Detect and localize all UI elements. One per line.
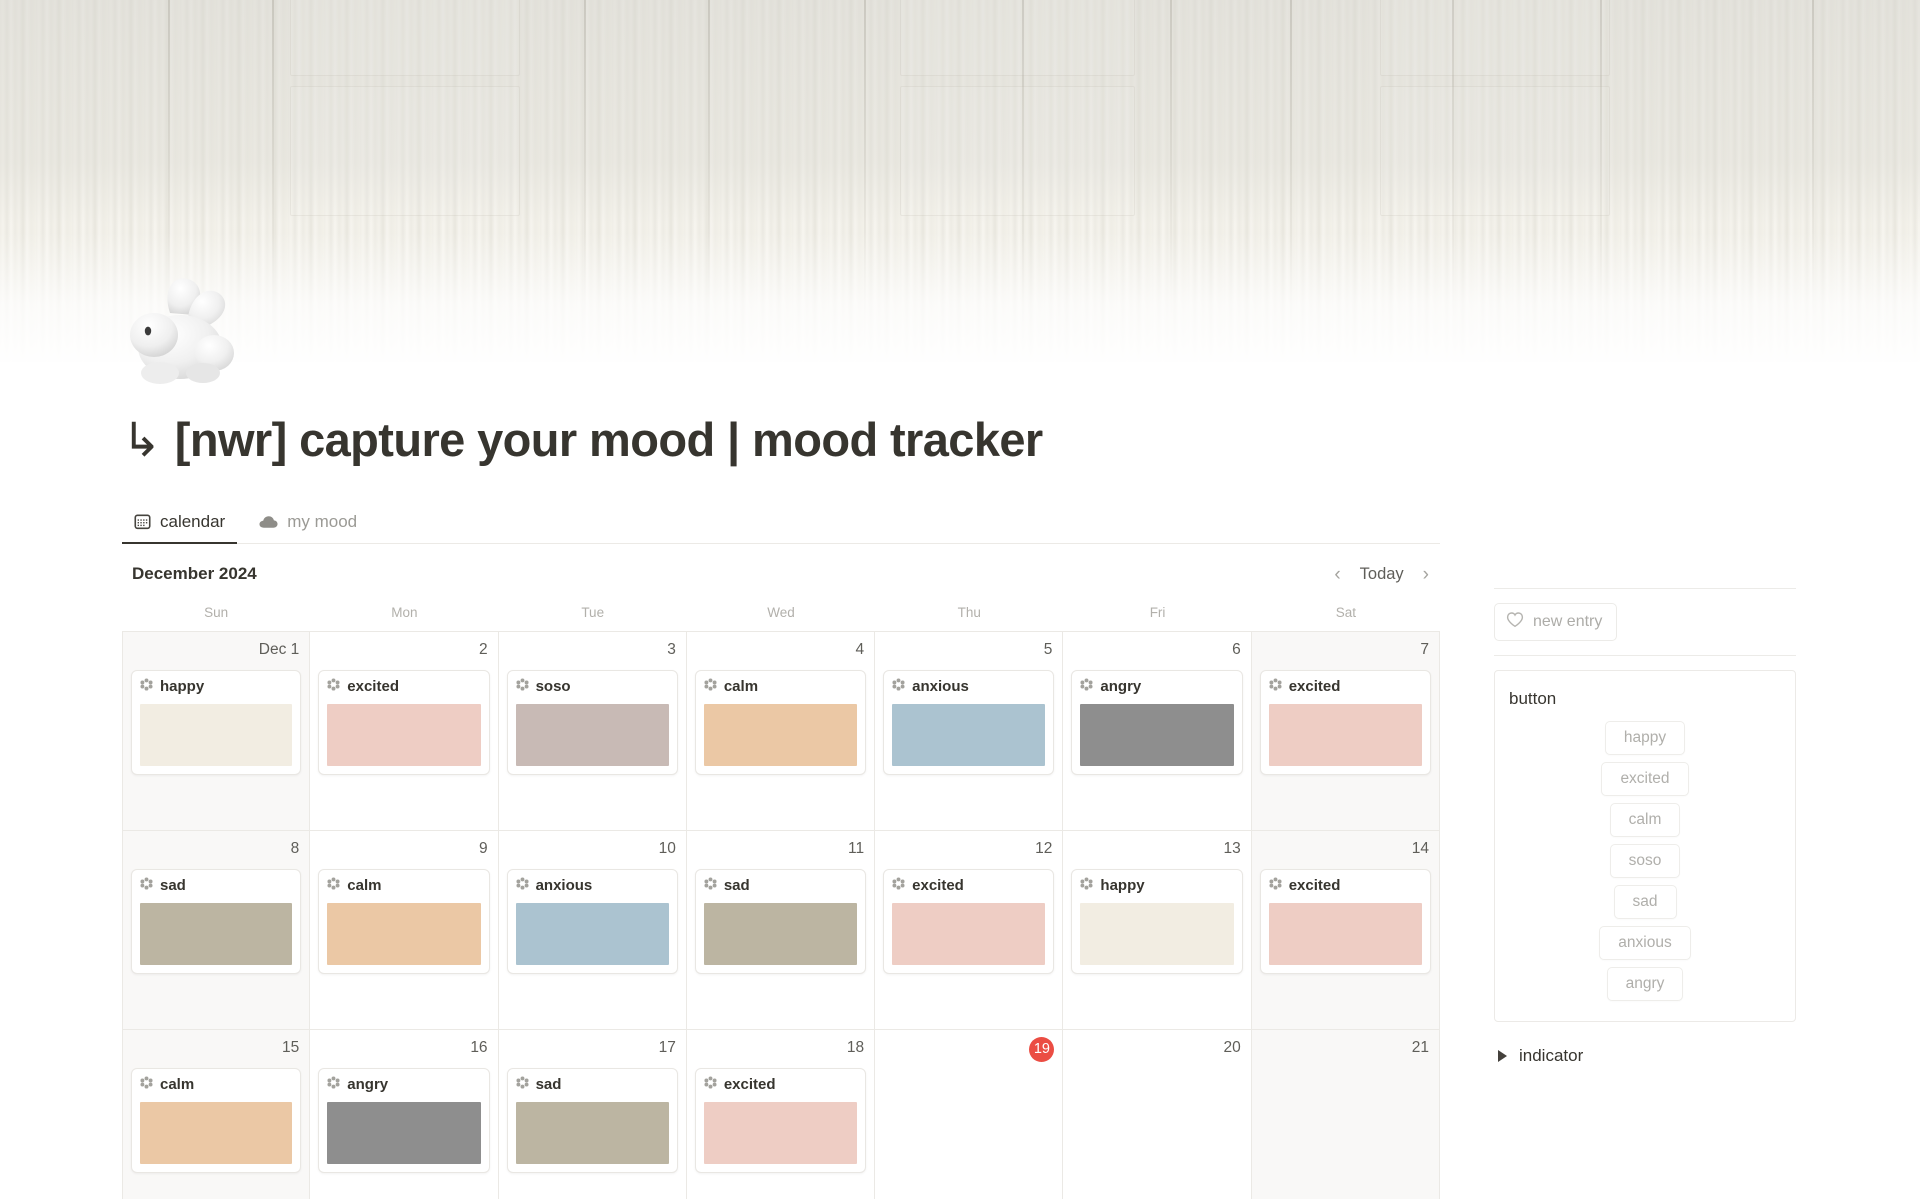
mood-entry-title: excited [1269,678,1422,695]
calendar-day-cell[interactable]: 7excited [1252,632,1440,830]
mood-color-swatch [1269,903,1422,965]
mood-entry-title: angry [327,1076,480,1093]
asterisk-icon [516,678,529,695]
mood-entry-title: calm [704,678,857,695]
triangle-right-icon [1498,1050,1507,1062]
day-number: 5 [1042,639,1055,661]
day-of-week-sat: Sat [1252,600,1440,631]
day-number: 12 [1033,838,1054,860]
mood-entry-title: soso [516,678,669,695]
button-panel: button happyexcitedcalmsososadanxiousang… [1494,670,1796,1022]
mood-entry-title: excited [327,678,480,695]
mood-entry-label: sad [160,877,186,894]
mood-entry-label: excited [347,678,399,695]
day-number-row: 16 [318,1037,489,1062]
mood-entry-card[interactable]: happy [131,670,301,775]
page-title-text: [nwr] capture your mood | mood tracker [175,413,1043,466]
mood-color-swatch [892,704,1045,766]
mood-button-angry[interactable]: angry [1607,967,1684,1001]
calendar-nav: ‹ Today › [1331,563,1438,586]
prev-month-button[interactable]: ‹ [1331,563,1343,586]
asterisk-icon [704,877,717,894]
mood-button-anxious[interactable]: anxious [1599,926,1690,960]
day-number: 16 [468,1037,489,1059]
day-number-row: 2 [318,639,489,664]
day-number: 10 [657,838,678,860]
day-number: 13 [1221,838,1242,860]
mood-entry-label: angry [347,1076,388,1093]
calendar-day-cell[interactable]: 18excited [687,1030,875,1199]
mood-color-swatch [327,903,480,965]
asterisk-icon [516,1076,529,1093]
day-number: 18 [845,1037,866,1059]
calendar-day-cell[interactable]: 11sad [687,831,875,1029]
right-sidebar: new entry button happyexcitedcalmsososad… [1494,588,1796,1066]
page-title: ↳[nwr] capture your mood | mood tracker [122,414,1552,467]
asterisk-icon [892,877,905,894]
calendar-day-cell[interactable]: 5anxious [875,632,1063,830]
tab-calendar[interactable]: calendar [122,506,237,543]
calendar-icon [134,513,151,530]
tab-bar: calendar my mood [122,506,1440,544]
asterisk-icon [1080,678,1093,695]
next-month-button[interactable]: › [1420,563,1432,586]
day-number-row: 19 [883,1037,1054,1062]
page-cover [0,0,1920,362]
day-number-row: 8 [131,838,301,863]
mood-entry-card[interactable]: calm [695,670,866,775]
day-number: 3 [665,639,678,661]
mood-entry-label: calm [724,678,758,695]
tab-calendar-label: calendar [160,512,225,532]
day-number: 17 [657,1037,678,1059]
tab-my-mood-label: my mood [287,512,357,532]
day-of-week-thu: Thu [875,600,1063,631]
mood-color-swatch [704,903,857,965]
mood-entry-card[interactable]: angry [1071,670,1242,775]
day-number: 7 [1418,639,1431,661]
asterisk-icon [140,1076,153,1093]
calendar-header: December 2024 ‹ Today › [122,558,1440,600]
mood-entry-title: sad [516,1076,669,1093]
day-number: 20 [1221,1037,1242,1059]
cloud-icon [259,515,278,529]
mood-color-swatch [892,903,1045,965]
mood-button-calm[interactable]: calm [1610,803,1681,837]
day-number-row: 13 [1071,838,1242,863]
calendar-week-row: 8sad9calm10anxious11sad12excited13happy1… [122,831,1440,1030]
day-number: 8 [289,838,302,860]
mood-entry-card[interactable]: excited [883,869,1054,974]
calendar-day-cell[interactable]: 9calm [310,831,498,1029]
mood-entry-label: excited [724,1076,776,1093]
day-number: 11 [846,838,866,860]
day-number-row: Dec 1 [131,639,301,664]
day-number: 9 [477,838,490,860]
mood-color-swatch [1269,704,1422,766]
day-number-row: 10 [507,838,678,863]
day-number: 4 [854,639,867,661]
mood-entry-title: anxious [516,877,669,894]
asterisk-icon [892,678,905,695]
sidebar-divider-top [1494,588,1796,589]
new-entry-button[interactable]: new entry [1494,603,1617,641]
today-button[interactable]: Today [1360,565,1404,584]
mood-color-swatch [516,903,669,965]
mood-button-soso[interactable]: soso [1610,844,1681,878]
page-icon-bunny[interactable] [118,273,246,391]
calendar-day-cell[interactable]: 12excited [875,831,1063,1029]
title-arrow-icon: ↳ [122,413,161,466]
mood-entry-title: sad [140,877,292,894]
day-number-row: 6 [1071,639,1242,664]
asterisk-icon [704,1076,717,1093]
day-number-row: 18 [695,1037,866,1062]
mood-entry-label: calm [160,1076,194,1093]
day-number: 2 [477,639,490,661]
day-number-row: 3 [507,639,678,664]
mood-color-swatch [704,704,857,766]
mood-color-swatch [1080,903,1233,965]
day-number-row: 11 [695,838,866,863]
mood-button-excited[interactable]: excited [1601,762,1688,796]
mood-entry-title: happy [1080,877,1233,894]
calendar-day-cell[interactable]: 2excited [310,632,498,830]
day-number-row: 14 [1260,838,1431,863]
asterisk-icon [1269,678,1282,695]
day-number-row: 9 [318,838,489,863]
calendar-day-cell[interactable]: 19 [875,1030,1063,1199]
day-number-row: 15 [131,1037,301,1062]
day-number-row: 17 [507,1037,678,1062]
day-of-week-fri: Fri [1063,600,1251,631]
mood-entry-card[interactable]: calm [318,869,489,974]
mood-entry-label: happy [1100,877,1144,894]
mood-entry-label: calm [347,877,381,894]
button-panel-title: button [1509,689,1781,709]
calendar-week-row: 15calm16angry17sad18excited192021 [122,1030,1440,1199]
mood-entry-label: soso [536,678,571,695]
asterisk-icon [516,877,529,894]
mood-entry-title: sad [704,877,857,894]
calendar-day-cell[interactable]: 13happy [1063,831,1251,1029]
mood-color-swatch [327,1102,480,1164]
mood-entry-card[interactable]: sad [131,869,301,974]
calendar-day-cell[interactable]: 6angry [1063,632,1251,830]
calendar-day-cell[interactable]: 8sad [122,831,310,1029]
calendar-day-cell[interactable]: 4calm [687,632,875,830]
calendar-day-cell[interactable]: 20 [1063,1030,1251,1199]
mood-entry-title: excited [892,877,1045,894]
mood-entry-title: excited [704,1076,857,1093]
mood-entry-label: sad [724,877,750,894]
mood-color-swatch [704,1102,857,1164]
day-number-row: 4 [695,639,866,664]
tab-my-mood[interactable]: my mood [247,506,369,543]
calendar-day-cell[interactable]: 15calm [122,1030,310,1199]
day-number: Dec 1 [257,639,302,661]
mood-entry-card[interactable]: excited [1260,670,1431,775]
asterisk-icon [1080,877,1093,894]
day-number-row: 7 [1260,639,1431,664]
mood-color-swatch [516,1102,669,1164]
mood-color-swatch [516,704,669,766]
day-of-week-header: SunMonTueWedThuFriSat [122,600,1440,632]
calendar-day-cell[interactable]: 21 [1252,1030,1440,1199]
mood-entry-card[interactable]: happy [1071,869,1242,974]
mood-entry-card[interactable]: excited [318,670,489,775]
calendar-day-cell[interactable]: 10anxious [499,831,687,1029]
day-number-row: 21 [1260,1037,1431,1062]
day-number-row: 20 [1071,1037,1242,1062]
mood-color-swatch [327,704,480,766]
new-entry-label: new entry [1533,613,1602,631]
asterisk-icon [704,678,717,695]
mood-entry-card[interactable]: sad [507,1068,678,1173]
mood-entry-card[interactable]: excited [1260,869,1431,974]
mood-color-swatch [1080,704,1233,766]
mood-entry-card[interactable]: sad [695,869,866,974]
asterisk-icon [327,1076,340,1093]
calendar-week-row: Dec 1happy2excited3soso4calm5anxious6ang… [122,632,1440,831]
mood-entry-label: anxious [536,877,593,894]
day-number: 21 [1410,1037,1431,1059]
mood-entry-card[interactable]: anxious [883,670,1054,775]
day-number: 14 [1410,838,1431,860]
mood-entry-card[interactable]: soso [507,670,678,775]
mood-button-list: happyexcitedcalmsososadanxiousangry [1509,721,1781,1001]
mood-entry-label: excited [1289,678,1341,695]
mood-entry-label: angry [1100,678,1141,695]
mood-entry-label: anxious [912,678,969,695]
mood-entry-title: angry [1080,678,1233,695]
mood-entry-title: calm [140,1076,292,1093]
day-number-today: 19 [1029,1037,1054,1062]
mood-entry-card[interactable]: angry [318,1068,489,1173]
mood-entry-card[interactable]: excited [695,1068,866,1173]
calendar-day-cell[interactable]: 3soso [499,632,687,830]
mood-entry-title: happy [140,678,292,695]
day-of-week-tue: Tue [499,600,687,631]
mood-button-sad[interactable]: sad [1614,885,1677,919]
mood-entry-card[interactable]: anxious [507,869,678,974]
day-number: 6 [1230,639,1243,661]
mood-entry-title: excited [1269,877,1422,894]
day-number-row: 12 [883,838,1054,863]
calendar-day-cell[interactable]: 16angry [310,1030,498,1199]
asterisk-icon [327,877,340,894]
calendar-day-cell[interactable]: 14excited [1252,831,1440,1029]
mood-entry-title: calm [327,877,480,894]
day-number-row: 5 [883,639,1054,664]
day-of-week-sun: Sun [122,600,310,631]
mood-entry-label: happy [160,678,204,695]
asterisk-icon [327,678,340,695]
indicator-label: indicator [1519,1046,1583,1066]
mood-entry-label: sad [536,1076,562,1093]
day-of-week-mon: Mon [310,600,498,631]
indicator-toggle[interactable]: indicator [1494,1046,1796,1066]
mood-button-happy[interactable]: happy [1605,721,1685,755]
mood-entry-title: anxious [892,678,1045,695]
day-of-week-wed: Wed [687,600,875,631]
calendar-weeks: Dec 1happy2excited3soso4calm5anxious6ang… [122,632,1440,1199]
sidebar-divider-bottom [1494,655,1796,656]
calendar-view: December 2024 ‹ Today › SunMonTueWedThuF… [122,558,1440,1199]
heart-icon [1506,611,1524,633]
mood-entry-label: excited [912,877,964,894]
calendar-month-label: December 2024 [132,564,257,584]
day-number: 15 [280,1037,301,1059]
asterisk-icon [1269,877,1282,894]
mood-entry-card[interactable]: calm [131,1068,301,1173]
asterisk-icon [140,877,153,894]
calendar-day-cell[interactable]: Dec 1happy [122,632,310,830]
mood-color-swatch [140,903,292,965]
asterisk-icon [140,678,153,695]
mood-entry-label: excited [1289,877,1341,894]
mood-color-swatch [140,704,292,766]
calendar-day-cell[interactable]: 17sad [499,1030,687,1199]
mood-color-swatch [140,1102,292,1164]
